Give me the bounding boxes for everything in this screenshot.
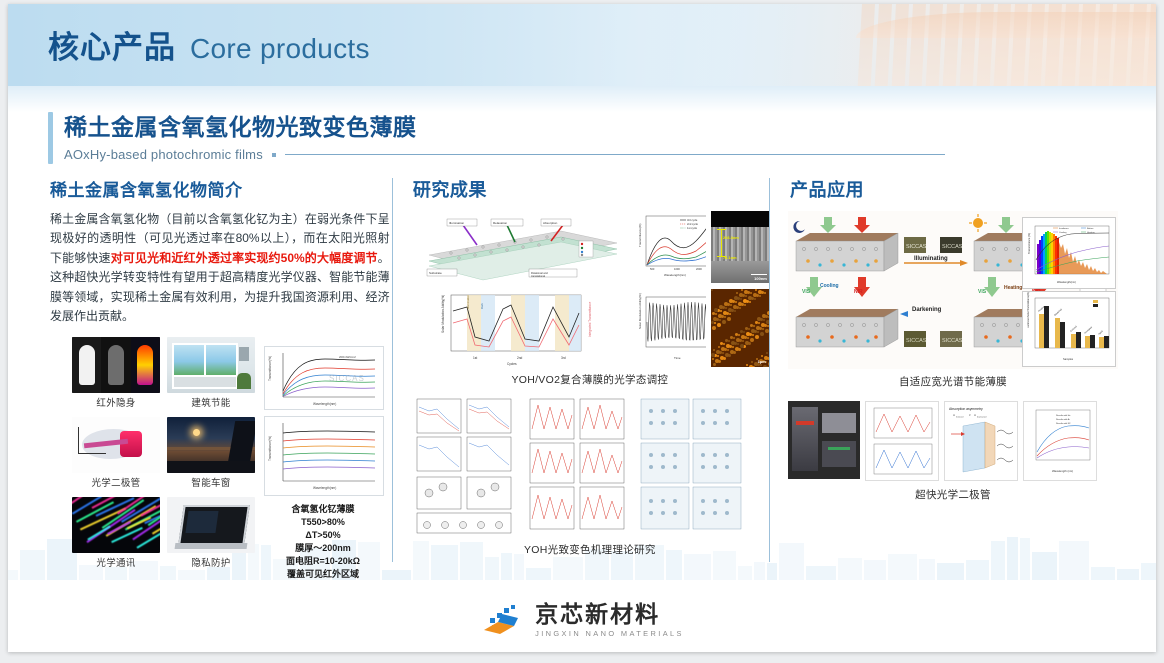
svg-text:1st cycle: 1st cycle [687,226,698,230]
svg-text:Solar Modulation Ability(%): Solar Modulation Ability(%) [441,295,445,333]
film-structure-schematic: Illumination Relaxation Absorption Subst… [411,211,625,283]
diode-response-chart [865,401,939,481]
svg-text:Heating: Heating [1004,285,1022,291]
building-energy-image [167,337,255,393]
svg-text:forward: forward [956,416,964,419]
svg-text:translational: translational [531,274,545,278]
svg-text:200mW/cm2: 200mW/cm2 [339,355,356,359]
gallery-caption: 建筑节能 [167,395,255,409]
section-title-cn: 稀土金属含氧氢化物光致变色薄膜 [64,108,945,142]
gallery-row: 红外隐身 建筑节能 [72,337,258,414]
diode-response-svg [866,402,938,480]
svg-text:Transmittance (%): Transmittance (%) [1027,233,1031,254]
svg-text:Before: Before [1087,227,1094,230]
svg-text:2000: 2000 [696,267,702,271]
research-caption-top: YOH/VO2复合薄膜的光学态调控 [411,372,769,387]
svg-text:3rd cycle: 3rd cycle [687,218,698,222]
jingxin-logo-icon [480,604,524,638]
gallery-caption: 光学二极管 [72,475,160,489]
svg-text:Irradiance: Irradiance [1059,227,1070,230]
section-line-dot [272,153,276,157]
sem-scale-label: 100nm [754,276,767,281]
spectrum-svg: Transmittance(%) Wavelength(nm) 500 1000… [630,211,706,283]
svg-text:Absorption: Absorption [543,221,558,225]
research-figure-group-top: Illumination Relaxation Absorption Subst… [411,211,769,367]
gallery-row: 光学通讯 隐私防护 [72,497,258,574]
svg-text:Dark: Dark [480,302,484,309]
section-title-block: 稀土金属含氧氢化物光致变色薄膜 AOxHy-based photochromic… [48,108,945,162]
svg-text:backward: backward [977,416,987,419]
svg-text:Samples: Samples [1063,357,1074,361]
svg-text:Absorption asymmetry: Absorption asymmetry [949,407,983,411]
gallery-cell[interactable]: 光学通讯 [72,497,160,574]
theory-svg-c [637,395,745,535]
svg-text:Illumination: Illumination [466,294,470,309]
spec-line-3: ΔT>50% [264,529,382,542]
svg-text:Illumination: Illumination [449,221,465,225]
footer-logo: 京芯新材料 JINGXIN NANO MATERIALS [8,603,1156,638]
svg-text:Substrate: Substrate [429,271,442,275]
gallery-row: 光学二极管 智能车窗 [72,417,258,494]
svg-text:A: A [953,413,955,417]
svg-text:Wavelength(nm): Wavelength(nm) [1057,280,1076,284]
smart-film-diagram: SICCAS SICCAS Illuminating [788,211,1118,369]
oscillation-chart: Solar Modulation Ability(%) Time [630,289,706,367]
svg-text:Wavelength(nm): Wavelength(nm) [313,402,336,406]
diode-spectrum-svg: Wavelength (nm) Results with He Results … [1024,402,1096,480]
diode-figure-group: Absorption asymmetry A forward ≠ A backw… [788,401,1118,481]
svg-text:VIS: VIS [802,289,811,295]
brand-name-cn: 京芯新材料 [535,603,684,626]
svg-text:Cycles: Cycles [507,362,517,366]
svg-text:Transmittance(%): Transmittance(%) [268,356,272,381]
app-spectrum-chart: Transmittance (%) Wavelength(nm) Irradia… [1022,217,1116,289]
optical-communication-image [72,497,160,553]
page-title-cn: 核心产品 [48,22,176,67]
column-introduction: 稀土金属含氧氢化物简介 稀土金属含氧氢化物（目前以含氧氢化钇为主）在弱光条件下呈… [48,176,392,576]
svg-text:VIS: VIS [978,289,987,295]
spec-line-5: 面电阻R=10-20kΩ [264,555,382,568]
gallery-cell[interactable]: 智能车窗 [167,417,255,494]
svg-text:Results with Ar: Results with Ar [1056,418,1070,421]
theory-panel-a [411,395,519,540]
svg-text:Results with N2: Results with N2 [1056,422,1071,425]
column-heading-research: 研究成果 [413,176,769,202]
svg-text:NIR: NIR [854,289,863,295]
section-subtitle-row: AOxHy-based photochromic films [64,147,945,162]
svg-text:2nd cycle: 2nd cycle [687,222,699,226]
microscopy-images: 208.3nm 78.1nm 100nm 1μm [711,211,769,367]
svg-text:Transmittance(%): Transmittance(%) [638,223,642,247]
spec-transmittance-plot: SICCAS Transmittance(%) Wavelength(nm) 2… [264,346,384,410]
section-underline [285,154,945,156]
gallery-caption: 智能车窗 [167,475,255,489]
sem-cross-section-image: 208.3nm 78.1nm 100nm [711,211,769,283]
svg-text:Darkening: Darkening [912,307,942,313]
theory-panel-c [637,395,745,540]
app-spectrum-svg: Transmittance (%) Wavelength(nm) Irradia… [1023,218,1115,288]
spec-plot2-svg: Transmittance(%) Wavelength(nm) [265,417,383,495]
column-research: 研究成果 [393,176,769,576]
svg-text:SICCAS: SICCAS [906,244,927,250]
smart-window-image [167,417,255,473]
application-caption-bottom: 超快光学二极管 [788,487,1118,502]
svg-text:A: A [974,413,976,417]
svg-text:Illuminating: Illuminating [914,256,948,262]
footer-brand-group: 京芯新材料 JINGXIN NANO MATERIALS [535,603,684,638]
svg-text:Wavelength (nm): Wavelength (nm) [1052,469,1073,473]
svg-text:SICCAS: SICCAS [906,338,927,344]
theory-svg-b [524,395,632,535]
application-caption-top: 自适应宽光谱节能薄膜 [788,374,1118,389]
page-title-en: Core products [190,33,370,65]
privacy-protection-image [167,497,255,553]
column-heading-intro: 稀土金属含氧氢化物简介 [50,176,392,201]
svg-text:Luminous/Solar Transmittance(%: Luminous/Solar Transmittance(%) [1027,292,1030,328]
slide: 核心产品 Core products 稀土金属含氧氢化物光致变色薄膜 AOxHy… [8,4,1156,652]
gallery-caption: 隐私防护 [167,555,255,569]
svg-text:Heating: Heating [1087,231,1095,234]
afm-scale-label: 1μm [758,359,766,364]
brand-name-en: JINGXIN NANO MATERIALS [535,629,684,638]
gallery-cell[interactable]: 建筑节能 [167,337,255,414]
cycling-stability-chart: Solar Modulation Ability(%) Integrated T… [411,289,625,367]
gallery-cell[interactable]: 光学二极管 [72,417,160,494]
svg-text:Wavelength(nm): Wavelength(nm) [664,273,686,277]
section-title-en: AOxHy-based photochromic films [64,147,263,162]
theory-figure-group [411,395,769,540]
svg-text:3rd: 3rd [561,356,566,360]
cycle-svg: Solar Modulation Ability(%) Integrated T… [411,289,625,367]
spec-block: SICCAS Transmittance(%) Wavelength(nm) 2… [264,346,382,581]
gallery-caption: 红外隐身 [72,395,160,409]
gallery-cell[interactable]: 红外隐身 [72,337,160,414]
svg-text:SICCAS: SICCAS [329,374,365,383]
intro-paragraph: 稀土金属含氧氢化物（目前以含氧氢化钇为主）在弱光条件下呈现极好的透明性（可见光透… [50,210,390,327]
svg-text:Integrated Transmittance: Integrated Transmittance [588,302,592,337]
intro-highlight: 对可见光和近红外透过率实现约50%的大幅度调节 [111,251,378,265]
app-bar-chart: Pristine Bleached Colored Annealed Aged … [1022,291,1116,367]
diode-spectrum-chart: Wavelength (nm) Results with He Results … [1023,401,1097,481]
research-caption-bottom: YOH光致变色机理理论研究 [411,542,769,557]
spec-line-2: T550>80% [264,516,382,529]
oscillation-svg: Solar Modulation Ability(%) Time [630,289,706,367]
spec-text: 含氧氢化钇薄膜 T550>80% ΔT>50% 膜厚～200nm 面电阻R=10… [264,503,382,581]
afm-image: 1μm [711,289,769,367]
slide-header: 核心产品 Core products [8,4,1156,86]
svg-text:1000: 1000 [674,267,680,271]
spec-cycling-plot: Transmittance(%) Wavelength(nm) [264,416,384,496]
app-bar-svg: Pristine Bleached Colored Annealed Aged … [1023,292,1115,366]
svg-text:2nd: 2nd [517,356,523,360]
theory-panel-b [524,395,632,540]
header-title-group: 核心产品 Core products [48,22,370,67]
svg-text:SICCAS: SICCAS [942,338,963,344]
spec-line-1: 含氧氢化钇薄膜 [264,503,382,516]
svg-text:SICCAS: SICCAS [942,244,963,250]
asymmetry-svg: Absorption asymmetry A forward ≠ A backw… [945,402,1017,480]
infrared-stealth-image [72,337,160,393]
optical-spectrum-chart: Transmittance(%) Wavelength(nm) 500 1000… [630,211,706,283]
column-applications: 产品应用 [770,176,1118,576]
theory-svg-a [411,395,519,535]
column-heading-applications: 产品应用 [790,176,1118,202]
svg-text:Solar Modulation Ability(%): Solar Modulation Ability(%) [638,293,642,329]
spec-plot-svg: SICCAS Transmittance(%) Wavelength(nm) 2… [265,347,383,409]
structure-svg: Illumination Relaxation Absorption Subst… [411,211,625,283]
svg-text:Results with He: Results with He [1056,414,1071,417]
optical-diode-image [72,417,160,473]
spec-line-6: 覆盖可见红外区域 [264,568,382,581]
spec-line-4: 膜厚～200nm [264,542,382,555]
svg-text:Time: Time [674,356,681,360]
gallery-cell[interactable]: 隐私防护 [167,497,255,574]
research-right-figures: Transmittance(%) Wavelength(nm) 500 1000… [630,211,706,367]
lab-setup-photo [788,401,860,479]
application-image-grid: 红外隐身 建筑节能 [72,337,258,574]
research-left-figures: Illumination Relaxation Absorption Subst… [411,211,625,367]
svg-text:Wavelength(nm): Wavelength(nm) [313,486,336,490]
svg-text:Cooling: Cooling [820,283,839,289]
svg-text:≠: ≠ [969,413,971,417]
svg-text:500: 500 [650,267,655,271]
section-accent-bar [48,112,53,164]
svg-text:Cooling: Cooling [1059,232,1067,234]
absorption-asymmetry-figure: Absorption asymmetry A forward ≠ A backw… [944,401,1018,481]
svg-text:Transmittance(%): Transmittance(%) [268,436,272,461]
gallery-caption: 光学通讯 [72,555,160,569]
svg-text:Relaxation: Relaxation [493,221,508,225]
content-columns: 稀土金属含氧氢化物简介 稀土金属含氧氢化物（目前以含氧氢化钇为主）在弱光条件下呈… [48,176,1118,576]
svg-text:1st: 1st [473,356,477,360]
